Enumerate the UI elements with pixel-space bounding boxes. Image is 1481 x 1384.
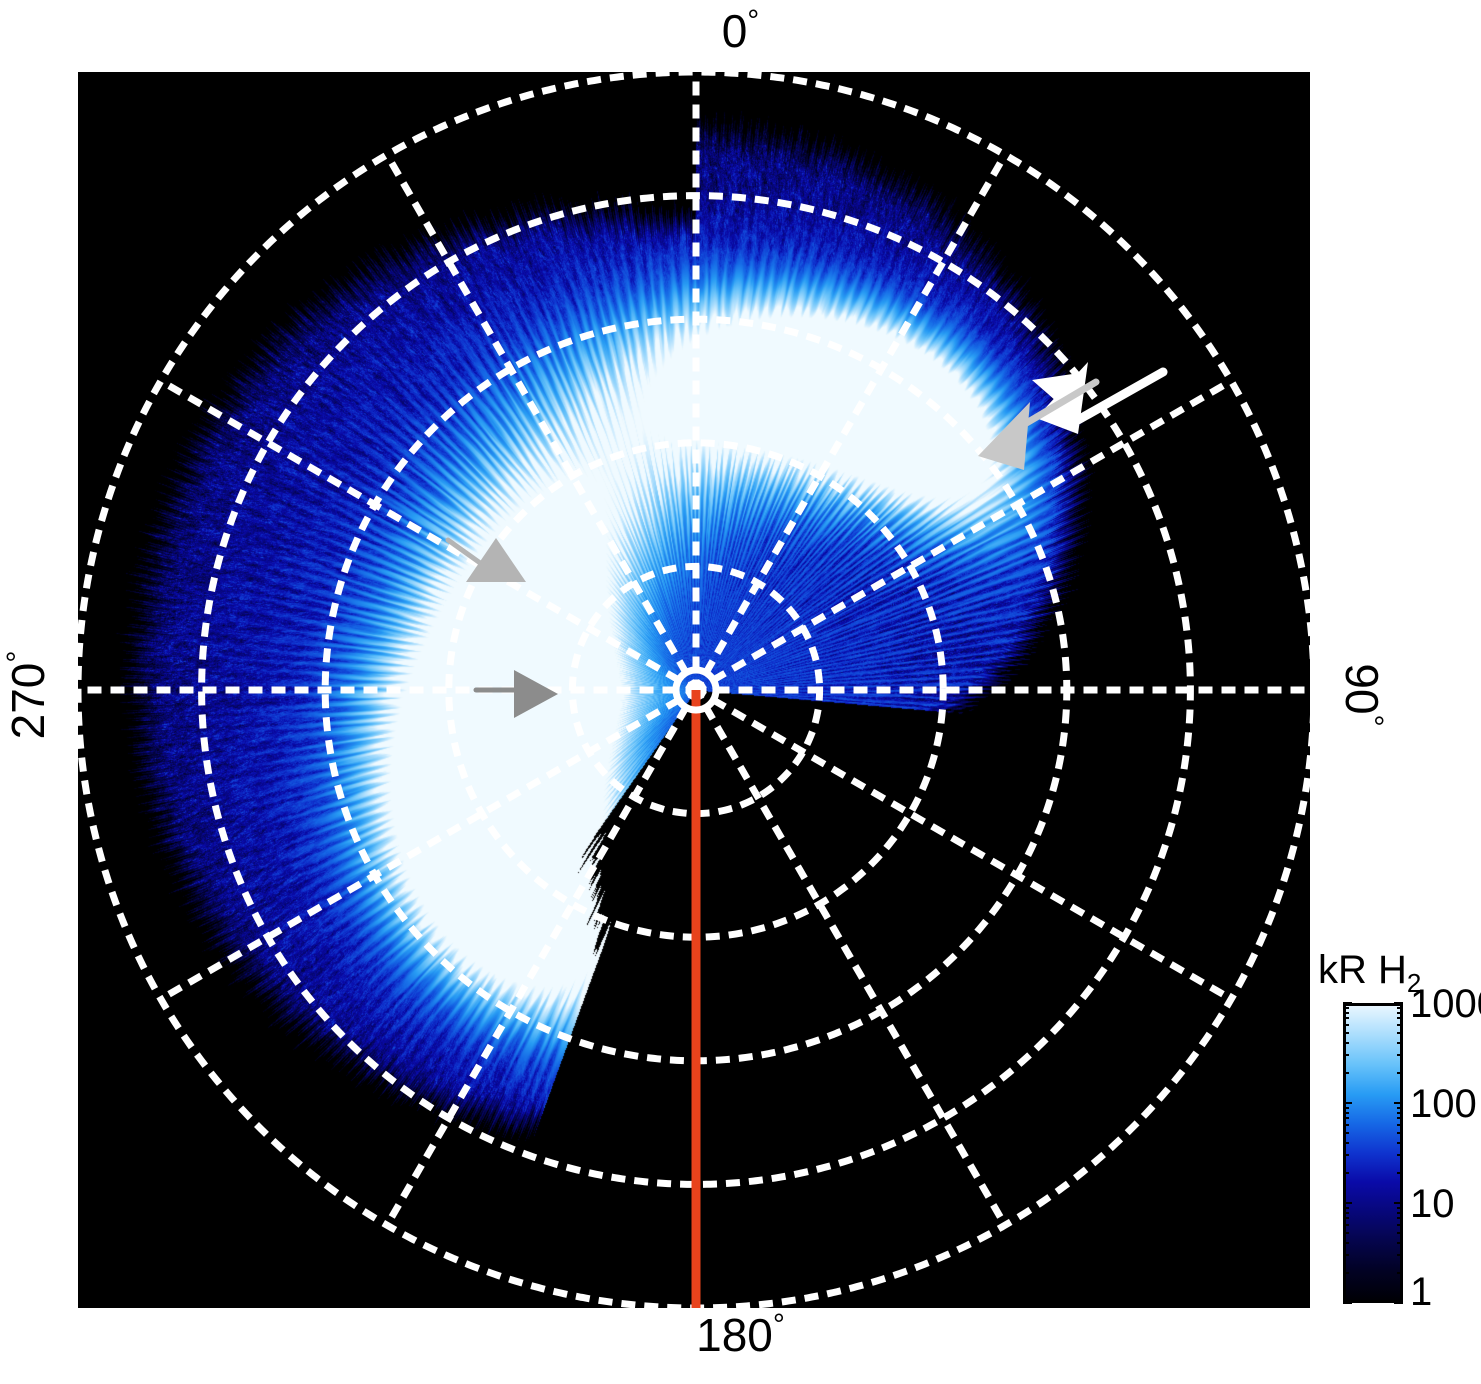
colorbar-tick-mark — [1343, 1124, 1349, 1126]
colorbar-tick-mark — [1394, 1202, 1403, 1204]
colorbar-tick-mark — [1343, 1017, 1349, 1019]
colorbar-tick-mark — [1343, 1007, 1349, 1009]
colorbar-tick-mark — [1397, 1254, 1403, 1256]
colorbar-tick-mark — [1343, 1032, 1349, 1034]
colorbar-tick-mark — [1343, 1254, 1349, 1256]
colorbar-tick-mark — [1397, 1112, 1403, 1114]
colorbar-tick-mark — [1343, 1217, 1349, 1219]
colorbar-tick-mark — [1397, 1232, 1403, 1234]
degree-symbol-left: ° — [2, 651, 35, 663]
colorbar-tick-mark — [1397, 1054, 1403, 1056]
colorbar-tick-mark — [1343, 1072, 1349, 1074]
polar-plot-panel — [78, 72, 1310, 1308]
colorbar-tick-mark — [1343, 1242, 1349, 1244]
colorbar-gradient — [1343, 1003, 1403, 1303]
colorbar-tick-label: 1000 — [1410, 984, 1481, 1024]
colorbar-tick-mark — [1397, 1107, 1403, 1109]
colorbar-tick-mark — [1397, 1042, 1403, 1044]
colorbar-tick-mark — [1397, 1242, 1403, 1244]
colorbar-tick-mark — [1397, 1024, 1403, 1026]
colorbar-tick-mark — [1397, 1272, 1403, 1274]
colorbar-tick-mark — [1397, 1172, 1403, 1174]
degree-symbol-bottom: ° — [773, 1309, 785, 1342]
colorbar-tick-mark — [1397, 1212, 1403, 1214]
colorbar-tick-mark — [1343, 1054, 1349, 1056]
colorbar-tick-mark — [1343, 1172, 1349, 1174]
axis-label-left-value: 270 — [2, 663, 54, 740]
colorbar-tick-mark — [1343, 1272, 1349, 1274]
colorbar-title: kR H2 — [1318, 948, 1421, 999]
colorbar-tick-mark — [1397, 1224, 1403, 1226]
colorbar-tick-mark — [1343, 1224, 1349, 1226]
colorbar-tick-label: 100 — [1410, 1084, 1477, 1124]
colorbar-tick-mark — [1397, 1117, 1403, 1119]
axis-label-right-value: 90 — [1336, 663, 1388, 714]
colorbar-tick-label: 10 — [1410, 1184, 1455, 1224]
colorbar-tick-mark — [1394, 1002, 1403, 1004]
colorbar-tick-mark — [1343, 1112, 1349, 1114]
colorbar-tick-mark — [1343, 1142, 1349, 1144]
colorbar-title-main: kR H — [1318, 948, 1407, 992]
colorbar-tick-mark — [1343, 1042, 1349, 1044]
colorbar-tick-mark — [1397, 1072, 1403, 1074]
colorbar-tick-mark — [1343, 1012, 1349, 1014]
colorbar-tick-mark — [1343, 1202, 1352, 1204]
colorbar-tick-mark — [1343, 1107, 1349, 1109]
colorbar-tick-mark — [1343, 1212, 1349, 1214]
degree-symbol-top: ° — [747, 5, 759, 38]
colorbar-tick-mark — [1397, 1142, 1403, 1144]
colorbar-tick-mark — [1394, 1102, 1403, 1104]
auroral-emission-image — [78, 72, 1310, 1308]
axis-label-right: 90° — [1339, 615, 1385, 775]
colorbar-tick-mark — [1394, 1302, 1403, 1304]
colorbar-tick-mark — [1397, 1012, 1403, 1014]
colorbar-tick-mark — [1343, 1232, 1349, 1234]
colorbar-tick-mark — [1397, 1124, 1403, 1126]
colorbar-group: kR H2 1000 100 10 1 — [1316, 948, 1481, 1320]
colorbar-tick-label: 1 — [1410, 1272, 1432, 1312]
colorbar-tick-mark — [1397, 1154, 1403, 1156]
colorbar-tick-mark — [1343, 1302, 1352, 1304]
colorbar-tick-mark — [1343, 1002, 1352, 1004]
axis-label-left: 270° — [5, 615, 51, 775]
axis-label-top: 0° — [0, 8, 1481, 54]
colorbar-tick-mark — [1343, 1102, 1352, 1104]
colorbar-tick-mark — [1343, 1207, 1349, 1209]
colorbar-tick-mark — [1343, 1024, 1349, 1026]
colorbar-tick-mark — [1343, 1132, 1349, 1134]
colorbar-tick-mark — [1397, 1207, 1403, 1209]
axis-label-bottom-value: 180 — [696, 1309, 773, 1361]
colorbar-tick-mark — [1397, 1032, 1403, 1034]
colorbar-tick-mark — [1343, 1154, 1349, 1156]
colorbar-tick-mark — [1397, 1017, 1403, 1019]
polar-auroral-figure: 0° 180° 270° 90° — [0, 0, 1481, 1384]
colorbar-tick-mark — [1397, 1007, 1403, 1009]
colorbar-tick-mark — [1397, 1217, 1403, 1219]
colorbar-tick-mark — [1343, 1117, 1349, 1119]
axis-label-top-value: 0 — [722, 5, 748, 57]
axis-label-bottom: 180° — [0, 1312, 1481, 1358]
colorbar-tick-mark — [1397, 1132, 1403, 1134]
degree-symbol-right: ° — [1355, 715, 1388, 727]
